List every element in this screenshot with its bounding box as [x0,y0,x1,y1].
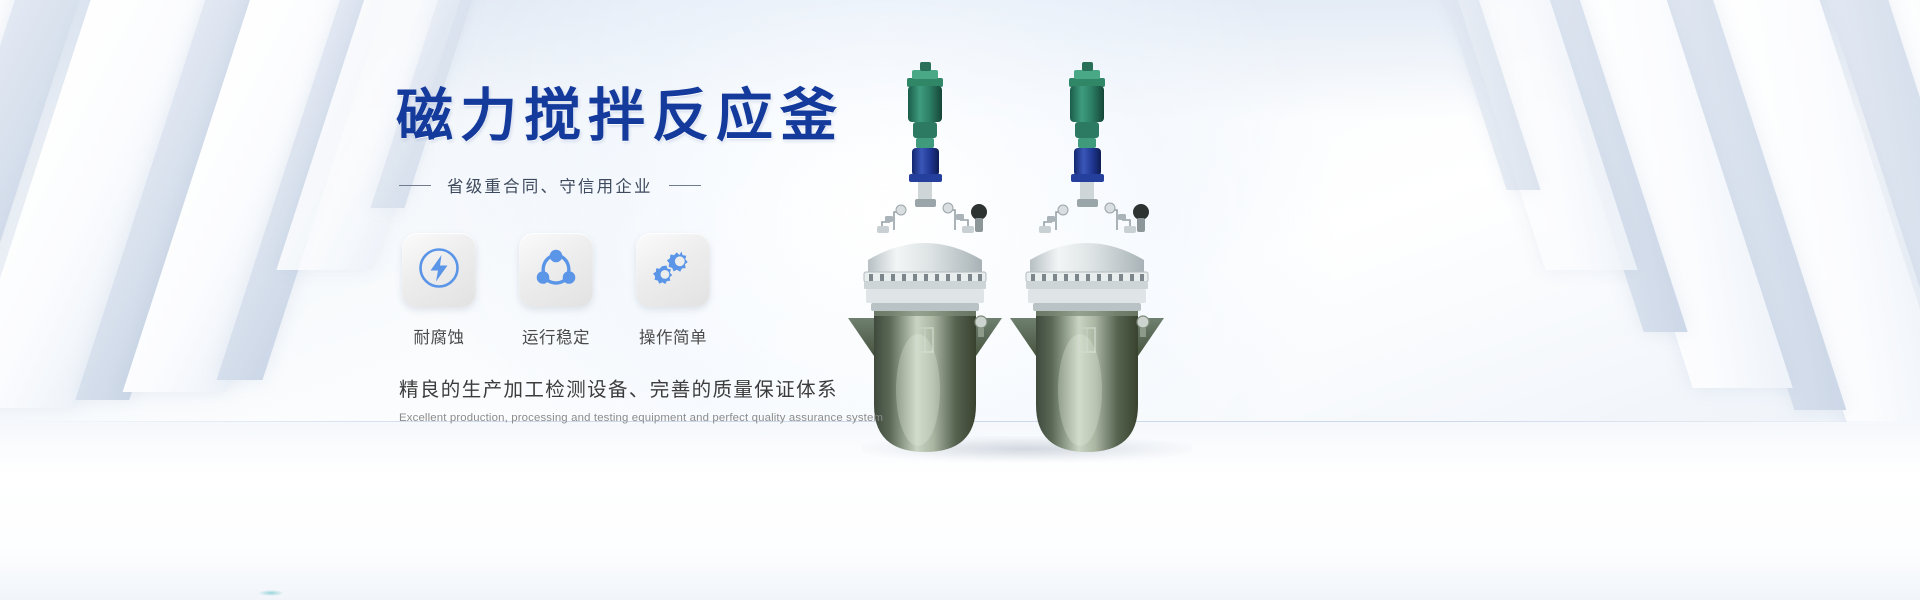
subtitle-text: 省级重合同、守信用企业 [447,173,653,197]
feature-item-stable-operation[interactable]: 运行稳定 [519,233,593,348]
lightning-bolt-icon [417,246,461,295]
feature-label: 操作简单 [639,324,707,348]
feature-icon-tile[interactable] [519,233,593,307]
subtitle-row: 省级重合同、守信用企业 [399,173,1036,197]
feature-item-corrosion-resistant[interactable]: 耐腐蚀 [402,233,476,348]
feature-icon-tile[interactable] [636,233,710,307]
feature-list: 耐腐蚀 [402,233,1036,348]
feature-label: 耐腐蚀 [414,324,465,348]
tagline-block: 精良的生产加工检测设备、完善的质量保证体系 Excellent producti… [399,373,1036,424]
subtitle-dash-right [669,185,701,187]
share-nodes-icon [533,245,579,296]
feature-icon-tile[interactable] [402,233,476,307]
floor-accent-dot [258,590,284,596]
subtitle-dash-left [399,185,431,187]
feature-item-simple-operation[interactable]: 操作简单 [636,233,710,348]
banner-copy: 磁力搅拌反应釜 省级重合同、守信用企业 耐腐蚀 [396,86,1036,424]
gears-icon [650,245,696,296]
page-title: 磁力搅拌反应釜 [396,86,1036,146]
tagline-chinese: 精良的生产加工检测设备、完善的质量保证体系 [399,373,1036,402]
feature-label: 运行稳定 [522,324,590,348]
tagline-english: Excellent production, processing and tes… [399,412,1036,424]
product-banner: 磁力搅拌反应釜 省级重合同、守信用企业 耐腐蚀 [0,0,1920,600]
